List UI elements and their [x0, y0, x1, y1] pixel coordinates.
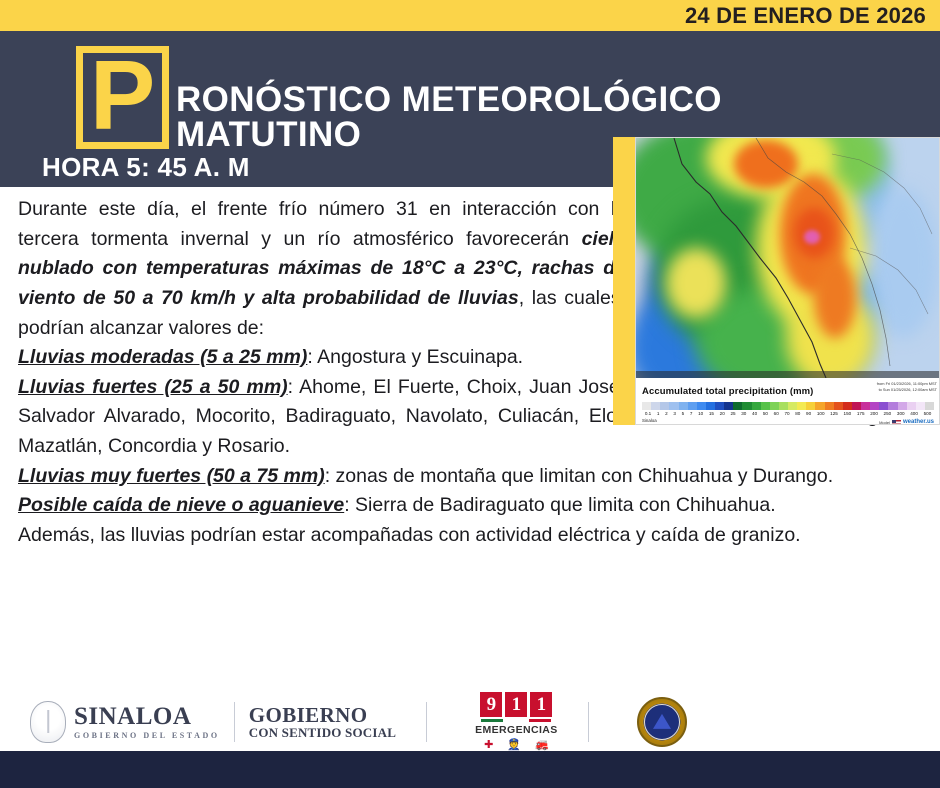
legend-swatch-20	[825, 402, 834, 410]
legend-swatch-21	[834, 402, 843, 410]
paragraph-lluvias-moderadas: Lluvias moderadas (5 a 25 mm): Angostura…	[18, 343, 626, 373]
weather-brand: Model weather.us	[879, 418, 934, 425]
legend-swatch-4	[679, 402, 688, 410]
paragraph-nieve: Posible caída de nieve o aguanieve: Sier…	[18, 491, 930, 521]
legend-swatch-23	[852, 402, 861, 410]
legend-swatch-30	[916, 402, 925, 410]
legend-value-0: 0.1	[642, 411, 654, 416]
intro-part-1: Durante este día, el frente frío número …	[18, 198, 626, 250]
911-digit-2: 1	[530, 692, 552, 717]
p-logo-box: P	[76, 46, 169, 149]
legend-swatch-14	[770, 402, 779, 410]
legend-swatch-22	[843, 402, 852, 410]
legend-swatch-15	[779, 402, 788, 410]
divider-3	[588, 702, 589, 742]
legend-value-21: 200	[867, 411, 880, 416]
911-label: EMERGENCIAS	[475, 724, 558, 736]
forecast-poster: 24 DE ENERO DE 2026 P RONÓSTICO METEOROL…	[0, 0, 940, 788]
sinaloa-subtitle: GOBIERNO DEL ESTADO	[74, 731, 220, 740]
legend-value-16: 90	[803, 411, 814, 416]
fire-icon: 🚒	[535, 738, 549, 751]
legend-swatch-17	[797, 402, 806, 410]
legend-swatch-7	[706, 402, 715, 410]
bottom-navy-bar	[0, 751, 940, 788]
legend-swatch-10	[733, 402, 742, 410]
legend-swatch-25	[870, 402, 879, 410]
text-nieve-aguanieve: : Sierra de Badiraguato que limita con C…	[344, 494, 775, 516]
legend-value-2: 2	[662, 411, 670, 416]
legend-title: Accumulated total precipitation (mm)	[642, 386, 813, 397]
legend-value-25: 500	[921, 411, 934, 416]
legend-swatch-19	[815, 402, 824, 410]
legend-value-6: 10	[695, 411, 706, 416]
gobierno-line-2: CON SENTIDO SOCIAL	[249, 726, 396, 740]
legend-swatch-3	[669, 402, 678, 410]
legend-value-18: 125	[827, 411, 840, 416]
legend-swatch-31	[925, 402, 934, 410]
911-service-icons: ✚ 👮 🚒	[475, 738, 558, 751]
proteccion-civil-seal-icon	[637, 697, 687, 747]
map-image	[636, 138, 940, 378]
legend-footer: Sinaloa GFS (15 days) from 01/24/2026/06…	[642, 418, 934, 425]
map-legend: Accumulated total precipitation (mm) fro…	[636, 378, 940, 425]
legend-swatch-18	[806, 402, 815, 410]
map-attribution-strip	[636, 371, 940, 378]
legend-value-1: 1	[654, 411, 662, 416]
legend-stamp-line1: from Fri 01/23/2026, 11:00pm MST	[877, 381, 937, 387]
legend-value-24: 400	[907, 411, 920, 416]
legend-swatch-16	[788, 402, 797, 410]
text-lluvias-muy-fuertes: : zonas de montaña que limitan con Chihu…	[325, 465, 833, 487]
gobierno-wordmark: GOBIERNO CON SENTIDO SOCIAL	[249, 704, 396, 740]
legend-swatch-12	[752, 402, 761, 410]
legend-swatch-2	[660, 402, 669, 410]
brand-text: weather.us	[903, 418, 934, 425]
legend-value-23: 300	[894, 411, 907, 416]
911-flag-bars	[475, 719, 558, 722]
911-digit-1: 1	[505, 692, 527, 717]
legend-value-22: 250	[881, 411, 894, 416]
legend-value-9: 25	[728, 411, 739, 416]
precipitation-map: Accumulated total precipitation (mm) fro…	[635, 137, 940, 425]
map-coastline	[636, 138, 940, 378]
legend-swatch-6	[697, 402, 706, 410]
legend-color-bar	[642, 402, 934, 410]
divider-1	[234, 702, 235, 742]
legend-value-14: 70	[782, 411, 793, 416]
us-flag-icon	[892, 420, 901, 425]
text-lluvias-moderadas: : Angostura y Escuinapa.	[307, 346, 523, 368]
legend-value-19: 150	[841, 411, 854, 416]
legend-value-8: 20	[717, 411, 728, 416]
legend-swatch-13	[761, 402, 770, 410]
model-label: Model	[879, 420, 890, 426]
heading-lluvias-muy-fuertes: Lluvias muy fuertes (50 a 75 mm)	[18, 465, 325, 487]
legend-swatch-1	[651, 402, 660, 410]
legend-swatch-29	[907, 402, 916, 410]
footer-logos: SINALOA GOBIERNO DEL ESTADO GOBIERNO CON…	[0, 692, 940, 751]
legend-value-4: 5	[679, 411, 687, 416]
hora-label: HORA 5: 45 A. M	[42, 152, 250, 183]
p-logo-letter: P	[83, 53, 162, 142]
legend-scale-values: 0.11235710152025304050607080901001251501…	[642, 411, 934, 416]
legend-value-11: 40	[749, 411, 760, 416]
sinaloa-shield-icon	[28, 699, 68, 745]
heading-nieve-aguanieve: Posible caída de nieve o aguanieve	[18, 494, 344, 516]
cross-icon: ✚	[484, 738, 493, 751]
paragraph-intro: Durante este día, el frente frío número …	[18, 195, 626, 343]
sinaloa-name: SINALOA	[74, 704, 220, 729]
legend-swatch-27	[888, 402, 897, 410]
legend-swatch-5	[688, 402, 697, 410]
heading-lluvias-fuertes: Lluvias fuertes (25 a 50 mm)	[18, 376, 288, 398]
heading-lluvias-moderadas: Lluvias moderadas (5 a 25 mm)	[18, 346, 307, 368]
legend-value-13: 60	[771, 411, 782, 416]
legend-value-15: 80	[792, 411, 803, 416]
precipitation-map-card: Accumulated total precipitation (mm) fro…	[613, 137, 940, 425]
sinaloa-logo: SINALOA GOBIERNO DEL ESTADO GOBIERNO CON…	[28, 699, 396, 745]
date-text: 24 DE ENERO DE 2026	[685, 3, 940, 29]
proteccion-civil-triangle-icon	[653, 713, 671, 728]
legend-value-3: 3	[671, 411, 679, 416]
legend-swatch-9	[724, 402, 733, 410]
legend-stamp-line2: to Sun 01/25/2026, 12:00am MST	[877, 387, 937, 393]
divider-2	[426, 702, 427, 742]
legend-swatch-8	[715, 402, 724, 410]
legend-timestamp: from Fri 01/23/2026, 11:00pm MST to Sun …	[877, 381, 937, 392]
legend-value-10: 30	[738, 411, 749, 416]
date-banner: 24 DE ENERO DE 2026	[0, 0, 940, 31]
legend-swatch-26	[879, 402, 888, 410]
legend-swatch-11	[742, 402, 751, 410]
legend-swatch-28	[898, 402, 907, 410]
legend-value-20: 175	[854, 411, 867, 416]
legend-value-5: 7	[687, 411, 695, 416]
911-digit-0: 9	[480, 692, 502, 717]
police-icon: 👮	[507, 738, 521, 751]
title-line-1: RONÓSTICO METEOROLÓGICO	[176, 83, 876, 118]
sinaloa-wordmark: SINALOA GOBIERNO DEL ESTADO	[74, 704, 220, 740]
paragraph-granizo: Además, las lluvias podrían estar acompa…	[18, 521, 930, 551]
911-digits: 911	[475, 692, 558, 717]
paragraph-lluvias-muy-fuertes: Lluvias muy fuertes (50 a 75 mm): zonas …	[18, 462, 930, 492]
legend-swatch-0	[642, 402, 651, 410]
legend-swatch-24	[861, 402, 870, 410]
legend-value-17: 100	[814, 411, 827, 416]
legend-value-12: 50	[760, 411, 771, 416]
legend-value-7: 15	[706, 411, 717, 416]
emergency-911-logo: 911 EMERGENCIAS ✚ 👮 🚒	[475, 692, 558, 751]
gobierno-line-1: GOBIERNO	[249, 704, 396, 726]
